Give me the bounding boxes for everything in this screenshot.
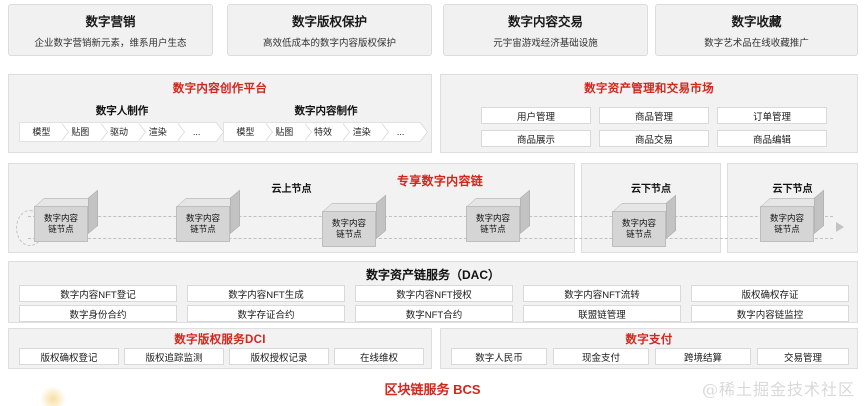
chain-title: 专享数字内容链 [360,172,520,189]
dci-item[interactable]: 版权授权记录 [229,348,329,365]
payment-item[interactable]: 跨境结算 [655,348,751,365]
dac-panel: 数字资产链服务（DAC） 数字内容NFT登记 数字内容NFT生成 数字内容NFT… [8,261,858,323]
creation-platform-panel: 数字内容创作平台 数字人制作 数字内容制作 模型 贴图 驱动 渲染 ... 模型… [8,74,432,153]
dac-item[interactable]: 数字NFT合约 [355,305,513,322]
asset-market-item[interactable]: 商品编辑 [717,130,827,147]
cube-side-face [814,190,824,234]
scenario-title: 数字收藏 [731,11,781,30]
diagram-canvas: 数字营销 企业数字营销新元素，维系用户生态 数字版权保护 高效低成本的数字内容版… [0,0,865,406]
chain-node-label: 数字内容 链节点 [34,206,88,242]
dac-item[interactable]: 数字存证合约 [187,305,345,322]
dci-panel: 数字版权服务DCI 版权确权登记 版权追踪监测 版权授权记录 在线维权 [8,328,432,369]
asset-market-item[interactable]: 订单管理 [717,107,827,124]
chain-node-label: 数字内容 链节点 [176,206,230,242]
dac-item[interactable]: 联盟链管理 [523,305,681,322]
dci-item[interactable]: 版权确权登记 [19,348,119,365]
cube-side-face [376,195,386,239]
scenario-card-0[interactable]: 数字营销 企业数字营销新元素，维系用户生态 [8,4,213,56]
scenario-card-2[interactable]: 数字内容交易 元宇宙游戏经济基础设施 [443,4,648,56]
pipeline-step[interactable]: 模型 [224,123,265,141]
chain-connector-top [28,216,833,217]
cube-side-face [88,190,98,234]
chain-node[interactable]: 数字内容 链节点 [34,198,98,242]
asset-market-title: 数字资产管理和交易市场 [441,80,857,96]
scenario-card-1[interactable]: 数字版权保护 高效低成本的数字内容版权保护 [227,4,432,56]
payment-item[interactable]: 数字人民币 [451,348,547,365]
chain-node-line1: 数字内容 [476,213,510,224]
chain-node-line1: 数字内容 [622,218,656,229]
chain-node-line2: 链节点 [336,229,362,240]
dac-item[interactable]: 数字内容NFT生成 [187,285,345,302]
chain-arrow-right [836,222,844,232]
cube-side-face [666,195,676,239]
asset-market-item[interactable]: 商品展示 [481,130,591,147]
payment-title: 数字支付 [441,331,857,347]
chain-node-line1: 数字内容 [186,213,220,224]
chain-node-line1: 数字内容 [44,213,78,224]
chain-node-line2: 链节点 [48,224,74,235]
chain-node-line2: 链节点 [774,224,800,235]
scenario-subtitle: 元宇宙游戏经济基础设施 [493,35,598,49]
dci-title: 数字版权服务DCI [9,331,431,347]
dci-item[interactable]: 在线维权 [334,348,424,365]
asset-market-panel: 数字资产管理和交易市场 用户管理 商品管理 订单管理 商品展示 商品交易 商品编… [440,74,858,153]
creation-group-heading-0: 数字人制作 [27,103,217,118]
cube-side-face [520,190,530,234]
chain-node-line2: 链节点 [190,224,216,235]
pipeline-step[interactable]: 模型 [20,123,61,141]
scenario-subtitle: 企业数字营销新元素，维系用户生态 [34,35,186,49]
creation-group-heading-1: 数字内容制作 [231,103,421,118]
chain-node-label: 数字内容 链节点 [760,206,814,242]
chain-node-label: 数字内容 链节点 [466,206,520,242]
chain-node[interactable]: 数字内容 链节点 [760,198,824,242]
chain-node[interactable]: 数字内容 链节点 [612,203,676,247]
asset-market-item[interactable]: 商品管理 [599,107,709,124]
scenario-title: 数字版权保护 [292,11,367,30]
dac-item[interactable]: 数字内容链监控 [691,305,849,322]
chain-connector-bottom [28,238,833,239]
dac-item[interactable]: 数字内容NFT授权 [355,285,513,302]
scenario-title: 数字营销 [85,11,135,30]
asset-market-item[interactable]: 商品交易 [599,130,709,147]
payment-item[interactable]: 交易管理 [757,348,849,365]
cube-side-face [230,190,240,234]
chain-node[interactable]: 数字内容 链节点 [466,198,530,242]
scenario-title: 数字内容交易 [508,11,583,30]
dac-item[interactable]: 数字内容NFT流转 [523,285,681,302]
scenario-subtitle: 数字艺术品在线收藏推广 [704,35,809,49]
chain-node-label: 数字内容 链节点 [322,211,376,247]
dac-item[interactable]: 版权确权存证 [691,285,849,302]
chain-node-line2: 链节点 [480,224,506,235]
scenario-card-3[interactable]: 数字收藏 数字艺术品在线收藏推广 [655,4,858,56]
dac-title: 数字资产链服务（DAC） [9,266,857,283]
chain-node-line1: 数字内容 [770,213,804,224]
chain-node-line2: 链节点 [626,229,652,240]
chain-node[interactable]: 数字内容 链节点 [322,203,386,247]
chain-node[interactable]: 数字内容 链节点 [176,198,240,242]
payment-item[interactable]: 现金支付 [553,348,649,365]
creation-platform-title: 数字内容创作平台 [9,80,431,96]
chain-node-line1: 数字内容 [332,218,366,229]
dci-item[interactable]: 版权追踪监测 [124,348,224,365]
creation-pipeline-1[interactable]: 模型 贴图 特效 渲染 ... [223,122,421,142]
dac-item[interactable]: 数字身份合约 [19,305,177,322]
creation-pipeline-0[interactable]: 模型 贴图 驱动 渲染 ... [19,122,217,142]
chain-zone-label-1: 云下节点 [582,180,720,195]
scenario-subtitle: 高效低成本的数字内容版权保护 [263,35,396,49]
asset-market-item[interactable]: 用户管理 [481,107,591,124]
chain-node-label: 数字内容 链节点 [612,211,666,247]
payment-panel: 数字支付 数字人民币 现金支付 跨境结算 交易管理 [440,328,858,369]
dac-item[interactable]: 数字内容NFT登记 [19,285,177,302]
watermark: @稀土掘金技术社区 [702,376,855,400]
chain-zone-label-2: 云下节点 [728,180,857,195]
